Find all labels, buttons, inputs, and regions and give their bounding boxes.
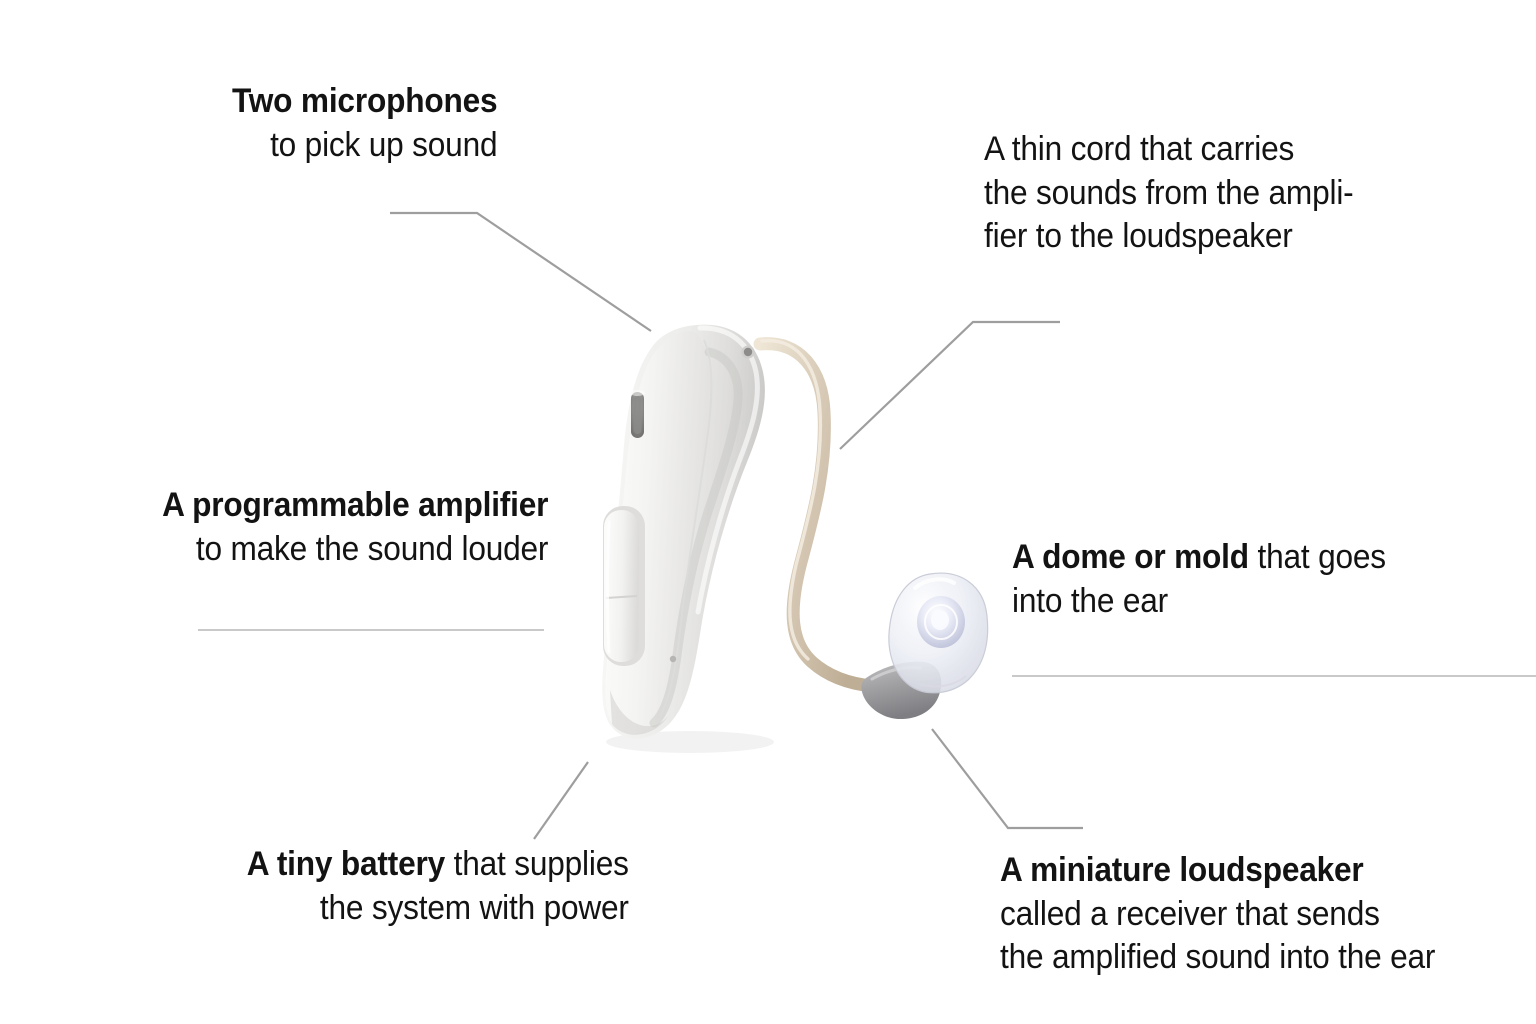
label-battery-bold: A tiny battery xyxy=(247,845,445,883)
label-battery-rest: that supplies xyxy=(445,845,629,883)
label-loudspeaker-line2: called a receiver that sends xyxy=(1000,893,1435,937)
microphone-port-slot-rim xyxy=(630,390,645,396)
cord xyxy=(760,344,872,686)
label-loudspeaker-line3: the amplified sound into the ear xyxy=(1000,936,1435,980)
rule-amplifier xyxy=(198,629,544,631)
label-battery-line2: the system with power xyxy=(247,887,629,931)
label-dome-rest: that goes xyxy=(1249,538,1386,576)
label-amplifier-line1: A programmable amplifier xyxy=(162,484,548,528)
microphone-port-slot-inner xyxy=(634,396,642,434)
label-dome: A dome or mold that goes into the ear xyxy=(1012,536,1386,623)
cord-highlight xyxy=(762,341,820,659)
label-amplifier-line2: to make the sound louder xyxy=(162,528,548,572)
label-dome-line2: into the ear xyxy=(1012,580,1386,624)
label-cord: A thin cord that carries the sounds from… xyxy=(984,128,1354,259)
label-microphones-line1: Two microphones xyxy=(232,80,497,124)
diagram-canvas: Two microphones to pick up sound A thin … xyxy=(0,0,1536,1024)
indicator-dot xyxy=(670,656,676,662)
label-loudspeaker: A miniature loudspeaker called a receive… xyxy=(1000,849,1435,980)
label-cord-line2: the sounds from the ampli- xyxy=(984,172,1354,216)
label-loudspeaker-line1: A miniature loudspeaker xyxy=(1000,849,1435,893)
label-battery-line1: A tiny battery that supplies xyxy=(247,843,629,887)
dome-core-center xyxy=(931,610,949,630)
microphone-port-dot xyxy=(744,348,752,356)
label-dome-line1: A dome or mold that goes xyxy=(1012,536,1386,580)
rocker-button-highlight xyxy=(608,522,610,652)
label-cord-line1: A thin cord that carries xyxy=(984,128,1354,172)
rule-dome xyxy=(1012,675,1536,677)
label-amplifier: A programmable amplifier to make the sou… xyxy=(162,484,548,571)
label-dome-bold: A dome or mold xyxy=(1012,538,1249,576)
label-microphones: Two microphones to pick up sound xyxy=(232,80,497,167)
label-microphones-line2: to pick up sound xyxy=(232,124,497,168)
label-battery: A tiny battery that supplies the system … xyxy=(247,843,629,930)
label-cord-line3: fier to the loudspeaker xyxy=(984,215,1354,259)
